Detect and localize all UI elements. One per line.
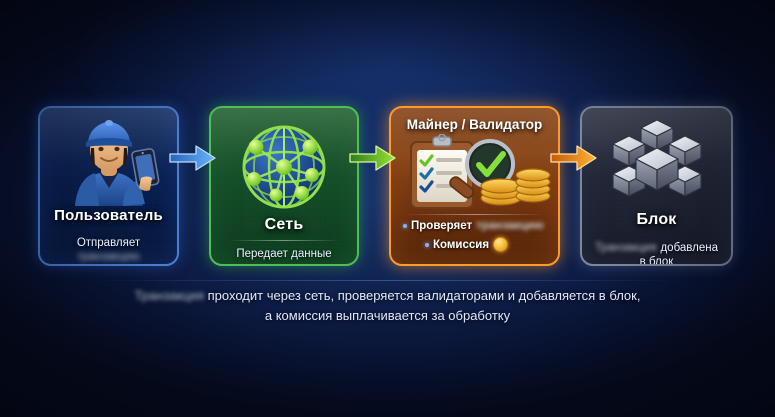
step-title-block: Блок (636, 212, 676, 228)
caption-divider (86, 280, 688, 281)
cube-block-icon (601, 118, 713, 212)
step-title-network: Сеть (265, 217, 304, 233)
arrow-network-to-miner (348, 143, 388, 171)
caption-blurred-word: Транзакция (135, 288, 204, 303)
step-card-block[interactable]: Блок Транзакция добавлена в блок (580, 106, 733, 266)
miner-bullet-list: Проверяет транзакцию Комиссия (391, 220, 558, 252)
caption-line-1: Транзакция проходит через сеть, проверяе… (0, 286, 775, 306)
clipboard-checklist-magnifier-coins-icon (397, 134, 553, 212)
miner-bullet-fee-label: Комиссия (433, 239, 489, 251)
miner-bullet-verify: Проверяет транзакцию (391, 220, 558, 232)
step-subtitle-block-blurred: Транзакция (595, 241, 656, 255)
steps-row: Пользователь Отправляет транзакцию (0, 106, 775, 266)
step-subtitle-block-line2: в блок (595, 255, 718, 266)
step-subtitle-user-line2-blurred: транзакцию (77, 250, 140, 264)
caption-line-1-text: проходит через сеть, проверяется валидат… (208, 288, 641, 303)
miner-bullet-fee: Комиссия (391, 237, 558, 252)
step-title-miner: Майнер / Валидатор (391, 108, 558, 132)
miner-bullet-verify-label: Проверяет (411, 220, 472, 232)
arrow-miner-to-block (549, 143, 589, 171)
infographic-canvas: Пользователь Отправляет транзакцию (0, 0, 775, 417)
step-card-network[interactable]: Сеть Передает данные (209, 106, 359, 266)
caption-line-2: а комиссия выплачивается за обработку (0, 306, 775, 326)
card-divider (228, 240, 340, 241)
step-card-user[interactable]: Пользователь Отправляет транзакцию (38, 106, 179, 266)
step-subtitle-block-line1: добавлена (660, 241, 718, 255)
arrow-user-to-network (168, 143, 208, 171)
bullet-dot-icon (425, 243, 429, 247)
bullet-dot-icon (403, 224, 407, 228)
step-title-user: Пользователь (54, 208, 163, 223)
step-subtitle-network: Передает данные (236, 247, 331, 261)
card-divider (405, 214, 545, 215)
step-subtitle-block: Транзакция добавлена в блок (595, 241, 718, 266)
miner-bullet-verify-blurred: транзакцию (476, 220, 544, 232)
step-subtitle-user: Отправляет транзакцию (77, 236, 140, 265)
step-subtitle-user-line1: Отправляет (77, 236, 140, 250)
globe-network-icon (232, 117, 336, 217)
caption: Транзакция проходит через сеть, проверяе… (0, 286, 775, 326)
person-with-smartphone-icon (53, 114, 165, 206)
coin-icon (493, 237, 508, 252)
step-card-miner[interactable]: Майнер / Валидатор (389, 106, 560, 266)
